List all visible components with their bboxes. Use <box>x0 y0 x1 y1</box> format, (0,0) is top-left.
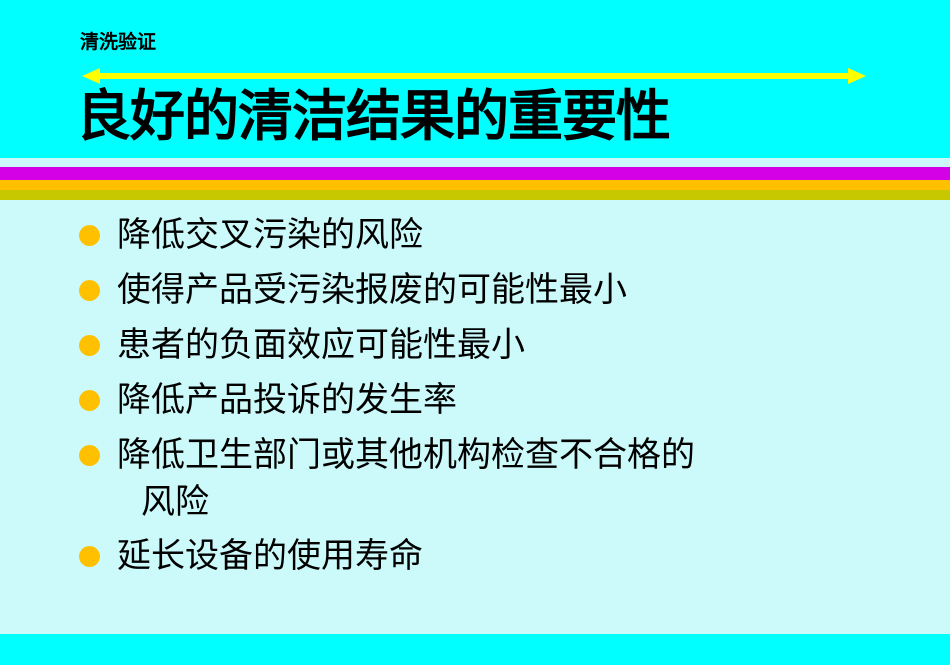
bullet-text-wrap: 风险 <box>117 479 932 526</box>
slide-body: 降低交叉污染的风险 使得产品受污染报废的可能性最小 患者的负面效应可能性最小 降… <box>0 200 950 634</box>
slide-header: 清洗验证 良好的清洁结果的重要性 <box>0 0 950 158</box>
list-item: 降低产品投诉的发生率 <box>72 377 932 424</box>
list-item: 患者的负面效应可能性最小 <box>72 322 932 369</box>
bullet-dot-icon <box>79 445 100 466</box>
bullet-dot-icon <box>79 225 100 246</box>
list-item: 降低卫生部门或其他机构检查不合格的 风险 <box>72 432 932 526</box>
bullet-text: 降低交叉污染的风险 <box>117 212 932 259</box>
stripe-orange <box>0 180 950 190</box>
bullet-text: 延长设备的使用寿命 <box>117 533 932 580</box>
bullet-list: 降低交叉污染的风险 使得产品受污染报废的可能性最小 患者的负面效应可能性最小 降… <box>72 212 932 588</box>
bullet-dot-icon <box>79 335 100 356</box>
list-item: 降低交叉污染的风险 <box>72 212 932 259</box>
bullet-text: 降低卫生部门或其他机构检查不合格的 <box>117 432 932 479</box>
bullet-dot-icon <box>79 280 100 301</box>
slide-kicker: 清洗验证 <box>80 33 156 53</box>
slide-root: 清洗验证 良好的清洁结果的重要性 降低交叉污染的风险 使得产品受污染报废的可能性… <box>0 0 950 665</box>
bullet-dot-icon <box>79 546 100 567</box>
stripe-gap-light <box>0 158 950 167</box>
bullet-text: 使得产品受污染报废的可能性最小 <box>117 267 932 314</box>
bullet-dot-icon <box>79 390 100 411</box>
slide-title: 良好的清洁结果的重要性 <box>76 86 670 147</box>
stripe-olive <box>0 190 950 200</box>
stripe-magenta <box>0 167 950 180</box>
bullet-text: 降低产品投诉的发生率 <box>117 377 932 424</box>
bullet-text: 患者的负面效应可能性最小 <box>117 322 932 369</box>
list-item: 使得产品受污染报废的可能性最小 <box>72 267 932 314</box>
double-headed-arrow-icon <box>82 68 866 84</box>
list-item: 延长设备的使用寿命 <box>72 533 932 580</box>
slide-footer <box>0 634 950 665</box>
